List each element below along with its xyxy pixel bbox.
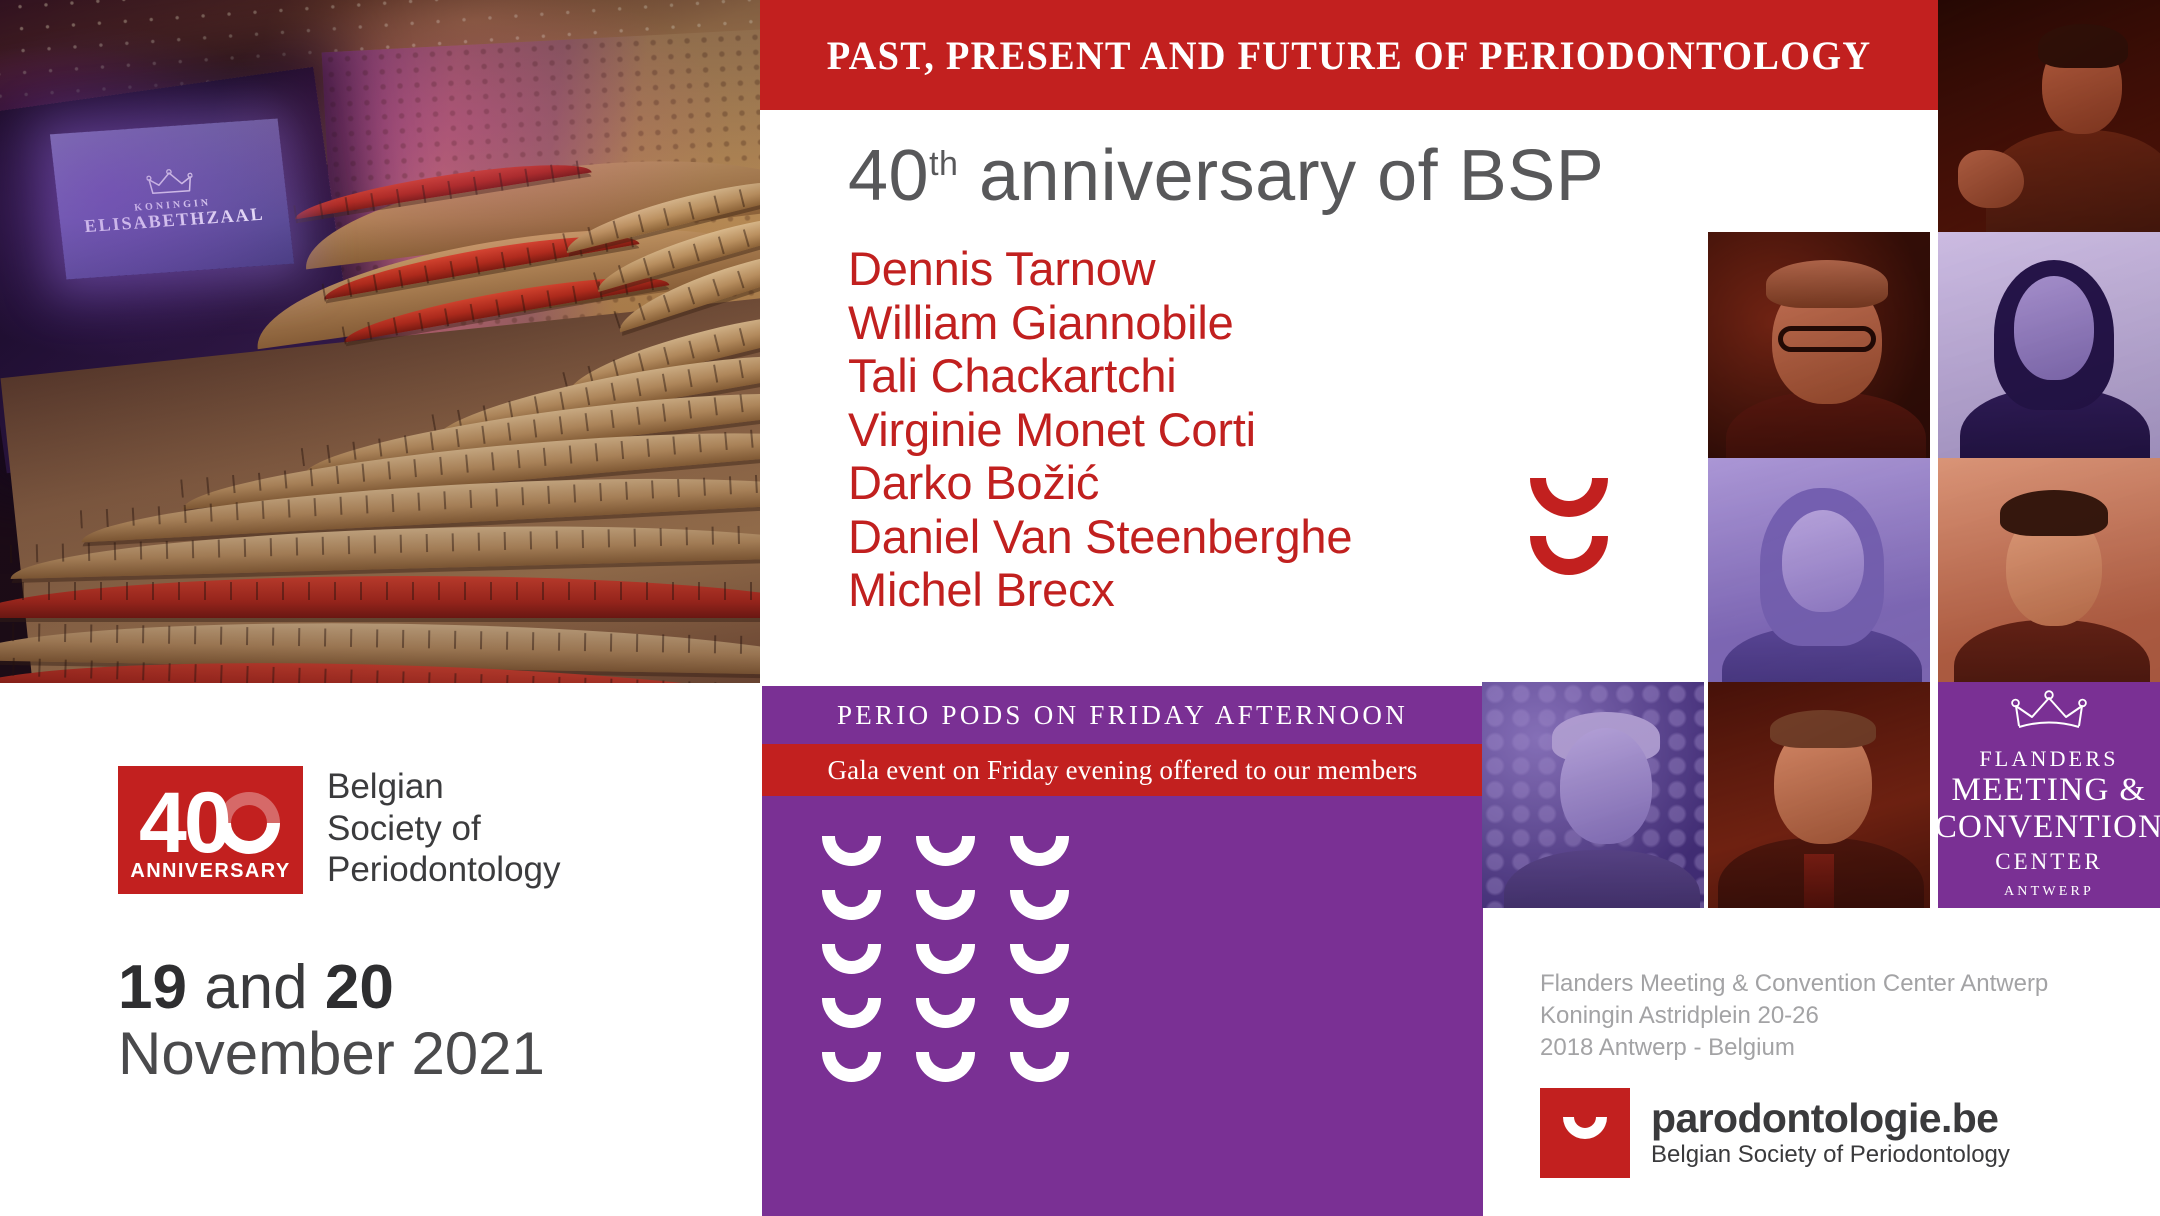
pods-pattern-grid [822,836,1082,1082]
photo-duotone-tint [1938,0,2160,232]
photo-brecx [1708,682,1930,908]
perio-pods-panel: PERIO PODS ON FRIDAY AFTERNOON Gala even… [762,686,1483,1216]
bowl-icon [822,836,881,866]
photo-duotone-tint [1482,682,1704,908]
photo-duotone-tint [1708,232,1930,458]
anniversary-text: anniversary of BSP [979,136,1604,216]
venue-address: Flanders Meeting & Convention Center Ant… [1540,968,2048,1064]
event-dates: 19 and 20 November 2021 [118,955,545,1087]
speaker-name: Michel Brecx [848,563,1352,617]
event-dates-days: 19 and 20 [118,955,545,1020]
perio-pods-heading: PERIO PODS ON FRIDAY AFTERNOON [837,700,1408,731]
anniversary-number: 40 [848,136,929,216]
auditorium-photo: KONINGIN ELISABETHZAAL [0,0,760,683]
fmcc-line1: FLANDERS [1979,745,2118,773]
photo-duotone-tint [1938,232,2160,458]
photo-bozic [1938,458,2160,682]
speaker-name: Dennis Tarnow [848,242,1352,296]
venue-line2: Koningin Astridplein 20-26 [1540,1000,2048,1032]
event-day-1: 19 [118,953,187,1022]
bsp-name: Belgian Society of Periodontology [327,766,561,891]
photo-duotone-tint [1938,458,2160,682]
speaker-list: Dennis Tarnow William Giannobile Tali Ch… [848,242,1352,617]
venue-line3: 2018 Antwerp - Belgium [1540,1032,2048,1064]
bsp-anniversary-lockup: 40 ANNIVERSARY Belgian Society of Period… [118,766,561,894]
event-dates-conjunction: and [187,953,325,1022]
title-banner: PAST, PRESENT AND FUTURE OF PERIODONTOLO… [760,0,1938,110]
poster-canvas: KONINGIN ELISABETHZAAL PAST, PRESENT AND… [0,0,2160,1216]
bowl-icon [916,836,975,866]
bowl-icon [822,890,881,920]
bsp-name-line2: Society of [327,808,561,850]
photo-duotone-tint [1708,682,1930,908]
speaker-name: William Giannobile [848,296,1352,350]
crown-icon [2010,690,2088,732]
bowl-icon [916,1052,975,1082]
anniversary-ordinal: th [929,145,958,183]
bowl-icon [1010,890,1069,920]
bowl-icon [916,944,975,974]
fmcc-line2: MEETING & [1952,772,2147,809]
bsp-mark-anniversary-word: ANNIVERSARY [118,860,303,883]
speaker-name: Virginie Monet Corti [848,403,1352,457]
bowl-icon [822,998,881,1028]
anniversary-headline: 40th anniversary of BSP [848,135,1604,217]
bowl-icon [1530,478,1608,517]
website-tagline: Belgian Society of Periodontology [1651,1141,2010,1170]
gala-event-bar: Gala event on Friday evening offered to … [762,744,1483,796]
fmcc-line3: CONVENTION [1935,809,2160,846]
bowl-icon [1010,1052,1069,1082]
bowl-icon [1010,836,1069,866]
speaker-name: Darko Božić [848,456,1352,510]
perio-pods-heading-bar: PERIO PODS ON FRIDAY AFTERNOON [762,686,1483,744]
fmcc-venue-logo: FLANDERS MEETING & CONVENTION CENTER ANT… [1938,682,2160,908]
bowl-icon [1010,998,1069,1028]
photo-monet-corti [1708,458,1930,682]
parodontologie-lockup[interactable]: parodontologie.be Belgian Society of Per… [1540,1088,2010,1178]
speaker-name: Daniel Van Steenberghe [848,510,1352,564]
speaker-name: Tali Chackartchi [848,349,1352,403]
venue-line1: Flanders Meeting & Convention Center Ant… [1540,968,2048,1000]
bsp-40-anniversary-mark: 40 ANNIVERSARY [118,766,303,894]
bsp-bowl-mark [1530,478,1608,594]
photo-tarnow [1938,0,2160,232]
bowl-icon [822,944,881,974]
website-domain[interactable]: parodontologie.be [1651,1096,2010,1140]
bowl-icon [1563,1117,1607,1139]
photo-giannobile [1708,232,1930,458]
photo-duotone-tint [1708,458,1930,682]
fmcc-line4: CENTER [1995,847,2102,877]
bsp-logo-mark [1540,1088,1630,1178]
bsp-mark-number: 40 [139,780,229,866]
bsp-name-line1: Belgian [327,766,561,808]
photo-van-steenberghe [1482,682,1704,908]
bsp-name-line3: Periodontology [327,849,561,891]
photo-chackartchi [1938,232,2160,458]
event-month-year: November 2021 [118,1020,545,1087]
event-day-2: 20 [325,953,394,1022]
gala-event-text: Gala event on Friday evening offered to … [827,755,1417,786]
hall-color-tint [0,0,760,683]
bowl-icon [916,998,975,1028]
bowl-icon [916,890,975,920]
bowl-icon [1010,944,1069,974]
bowl-icon [1530,536,1608,575]
fmcc-line5: ANTWERP [2004,884,2094,900]
parodontologie-text: parodontologie.be Belgian Society of Per… [1651,1096,2010,1169]
bowl-icon [822,1052,881,1082]
page-title: PAST, PRESENT AND FUTURE OF PERIODONTOLO… [827,32,1872,79]
